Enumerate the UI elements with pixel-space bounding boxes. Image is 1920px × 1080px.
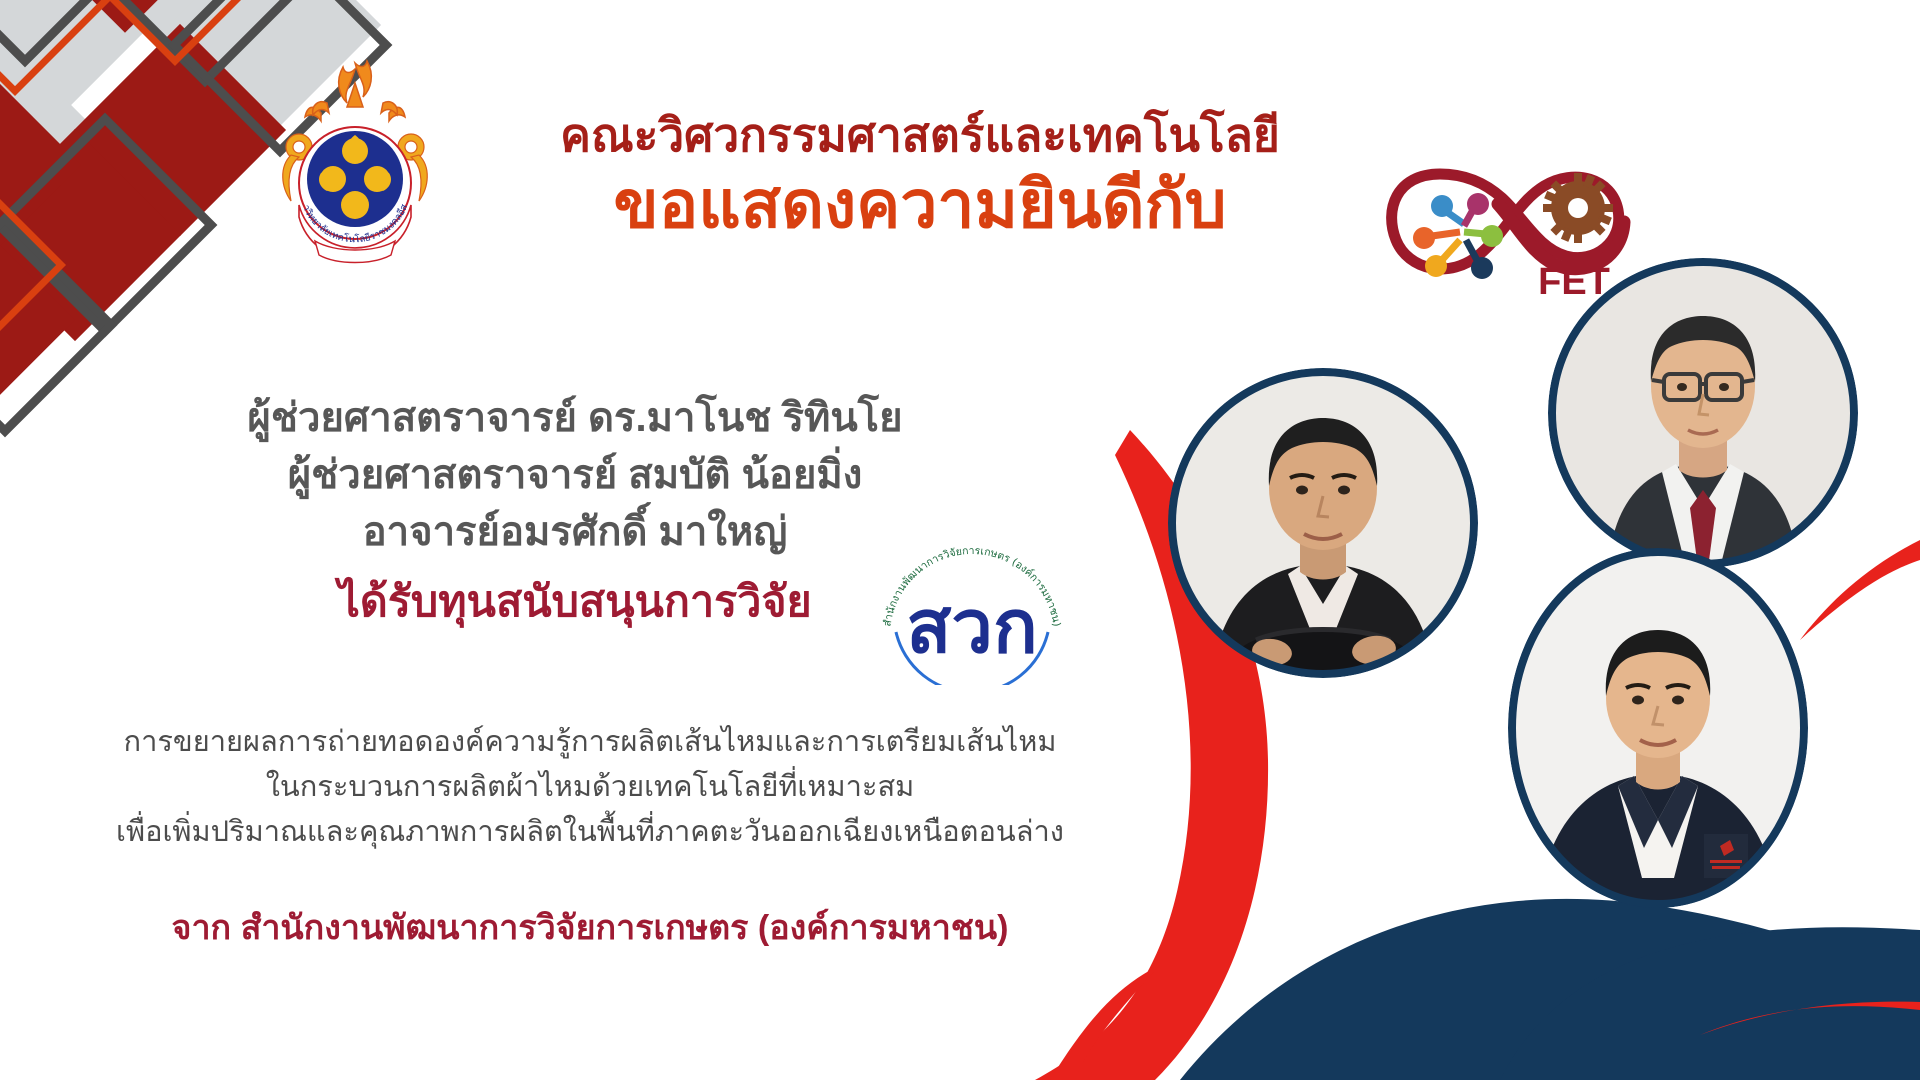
funding-source-text: จาก สำนักงานพัฒนาการวิจัยการเกษตร (องค์ก… (20, 900, 1160, 954)
arda-logo-icon: สำนักงานพัฒนาการวิจัยการเกษตร (องค์การมห… (872, 540, 1072, 685)
portrait-amornsak (1508, 548, 1808, 908)
header-block: คณะวิศวกรรมศาสตร์และเทคโนโลยี ขอแสดงความ… (470, 110, 1370, 242)
project-title-line-1: การขยายผลการถ่ายทอดองค์ความรู้การผลิตเส้… (20, 720, 1160, 765)
rmuti-university-seal-icon: มหาวิทยาลัยเทคโนโลยีราชมงคลอีสาน (255, 55, 455, 305)
portrait-manoch (1548, 258, 1858, 568)
poster-canvas: มหาวิทยาลัยเทคโนโลยีราชมงคลอีสาน คณะวิศว… (0, 0, 1920, 1080)
funding-source: จาก สำนักงานพัฒนาการวิจัยการเกษตร (องค์ก… (20, 900, 1160, 954)
congratulations-title: ขอแสดงความยินดีกับ (470, 167, 1370, 243)
gear-icon (1543, 173, 1613, 243)
portrait-sombat (1168, 368, 1478, 678)
faculty-title: คณะวิศวกรรมศาสตร์และเทคโนโลยี (470, 110, 1370, 161)
project-title-line-3: เพื่อเพิ่มปริมาณและคุณภาพการผลิตในพื้นที… (20, 810, 1160, 855)
project-title: การขยายผลการถ่ายทอดองค์ความรู้การผลิตเส้… (20, 720, 1160, 855)
arda-monogram: สวก (906, 584, 1038, 670)
honoree-name-1: ผู้ช่วยศาสตราจารย์ ดร.มาโนช ริทินโย (60, 390, 1090, 447)
honoree-name-2: ผู้ช่วยศาสตราจารย์ สมบัติ น้อยมิ่ง (60, 447, 1090, 504)
project-title-line-2: ในกระบวนการผลิตผ้าไหมด้วยเทคโนโลยีที่เหม… (20, 765, 1160, 810)
